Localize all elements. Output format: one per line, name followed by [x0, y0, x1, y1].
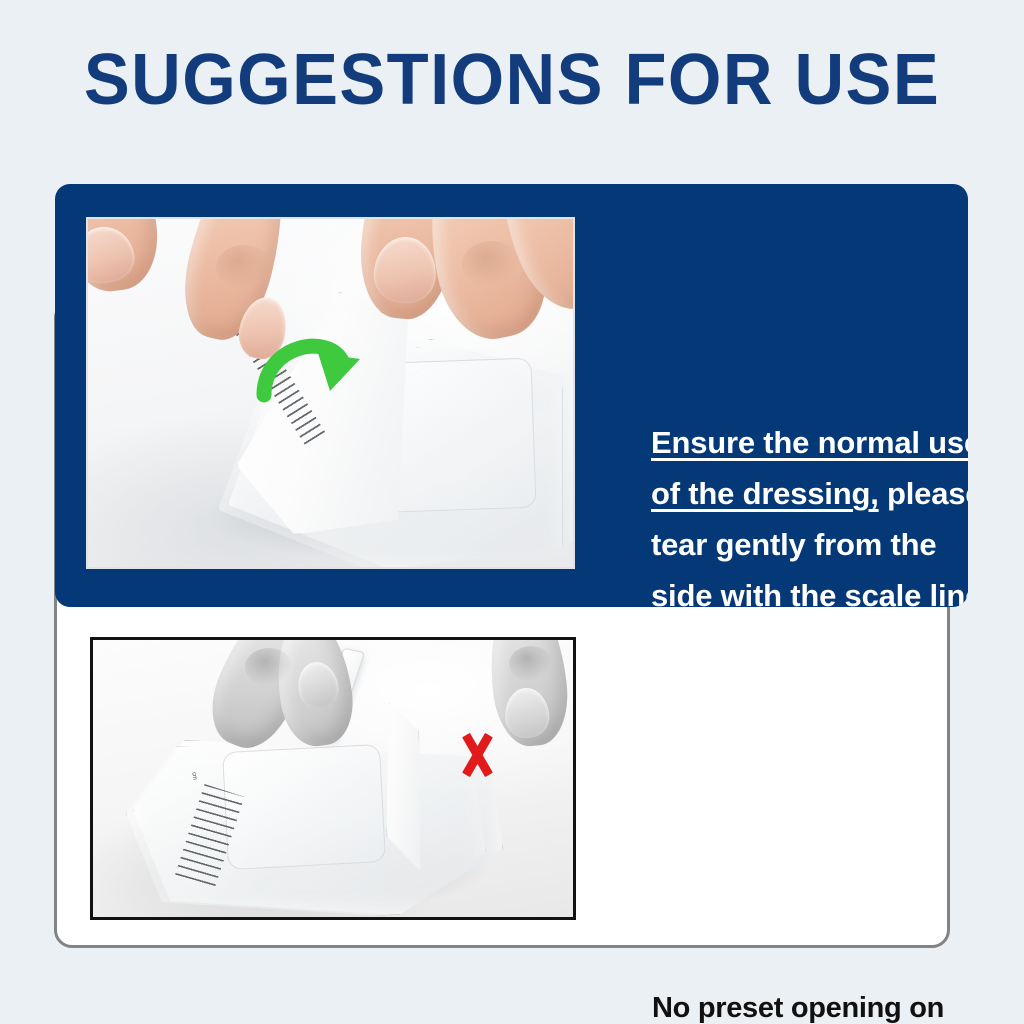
scale-line-label: cm — [190, 772, 198, 781]
photo-scene-correct: cm — [88, 219, 573, 567]
photo-correct-tear: cm — [86, 217, 575, 569]
photo-scene-incorrect: cm — [93, 640, 573, 917]
instruction-text-secondary: No preset opening on this side, tearing … — [652, 987, 987, 1024]
knuckle-right-index — [462, 241, 520, 287]
knuckle-left-index — [216, 245, 272, 289]
dressing-pad — [222, 744, 386, 870]
instruction-text-primary: Ensure the normal use of the dressing, p… — [651, 417, 968, 607]
photo-incorrect-tear: cm — [90, 637, 576, 920]
green-curved-arrow-icon — [256, 319, 368, 403]
knuckle-right — [509, 646, 553, 682]
primary-instruction-panel: cm Ensure the normal use of the dressing… — [55, 184, 968, 607]
page-title: SUGGESTIONS FOR USE — [23, 44, 1001, 116]
red-x-icon — [456, 733, 498, 777]
knuckle-left — [245, 648, 293, 686]
